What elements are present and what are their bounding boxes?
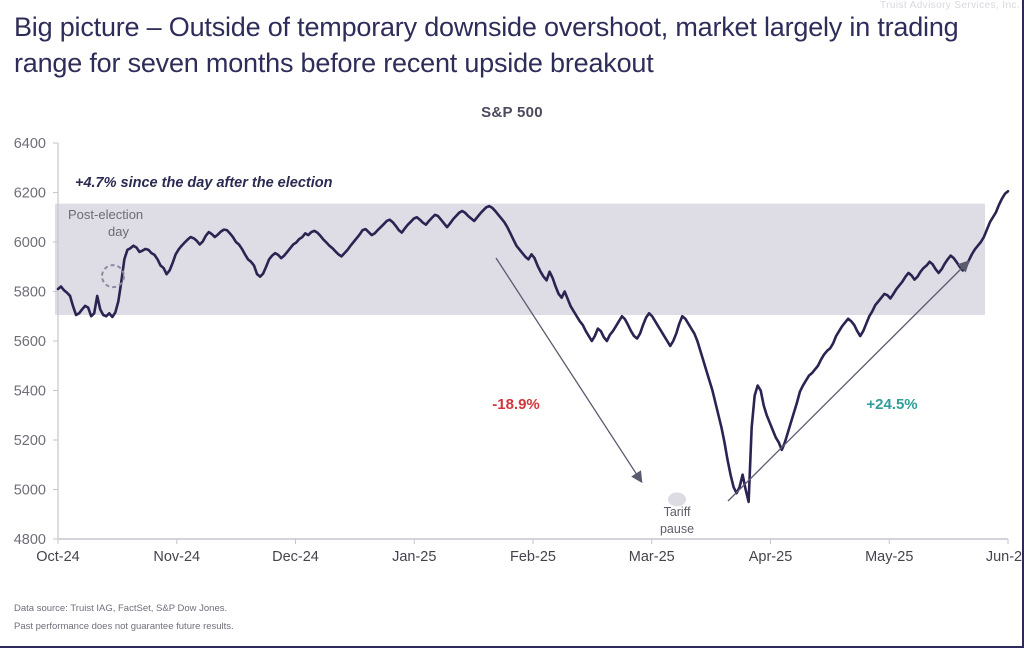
plot-band-group: [55, 204, 985, 315]
x-axis-group: Oct-24Nov-24Dec-24Jan-25Feb-25Mar-25Apr-…: [36, 539, 1024, 565]
tariff-pause-label-line1: Tariff: [664, 505, 691, 519]
x-axis-tick-label: Jan-25: [392, 549, 436, 565]
y-axis-tick-label: 5800: [14, 285, 46, 301]
y-axis-group: 480050005200540056005800600062006400: [14, 136, 58, 548]
x-axis-tick-label: Feb-25: [510, 549, 556, 565]
trading-range-band: [55, 204, 985, 315]
drawdown-percent-label: -18.9%: [492, 396, 540, 413]
post-election-label-line1: Post-election: [68, 207, 143, 222]
tariff-pause-label-line2: pause: [660, 522, 694, 536]
footnotes: Data source: Truist IAG, FactSet, S&P Do…: [14, 600, 234, 635]
x-axis-tick-label: Dec-24: [272, 549, 319, 565]
x-axis-tick-label: Mar-25: [629, 549, 675, 565]
x-axis-tick-label: Apr-25: [749, 549, 793, 565]
y-axis-tick-label: 6200: [14, 186, 46, 202]
since-election-annotation: +4.7% since the day after the election: [75, 175, 333, 191]
x-axis-tick-label: Nov-24: [153, 549, 200, 565]
disclaimer-note: Past performance does not guarantee futu…: [14, 618, 234, 636]
data-source-note: Data source: Truist IAG, FactSet, S&P Do…: [14, 600, 234, 618]
y-axis-tick-label: 6400: [14, 136, 46, 152]
x-axis-tick-label: May-25: [865, 549, 913, 565]
chart-plot-area: 480050005200540056005800600062006400 Oct…: [0, 0, 1024, 648]
y-axis-tick-label: 4800: [14, 532, 46, 548]
x-axis-tick-label: Oct-24: [36, 549, 80, 565]
sp500-line-chart: 480050005200540056005800600062006400 Oct…: [0, 0, 1024, 600]
post-election-label-line2: day: [108, 224, 129, 239]
x-axis-tick-label: Jun-25: [986, 549, 1024, 565]
y-axis-tick-label: 6000: [14, 235, 46, 251]
y-axis-tick-label: 5200: [14, 433, 46, 449]
y-axis-tick-label: 5000: [14, 483, 46, 499]
recovery-percent-label: +24.5%: [866, 396, 917, 413]
y-axis-tick-label: 5400: [14, 384, 46, 400]
y-axis-tick-label: 5600: [14, 334, 46, 350]
